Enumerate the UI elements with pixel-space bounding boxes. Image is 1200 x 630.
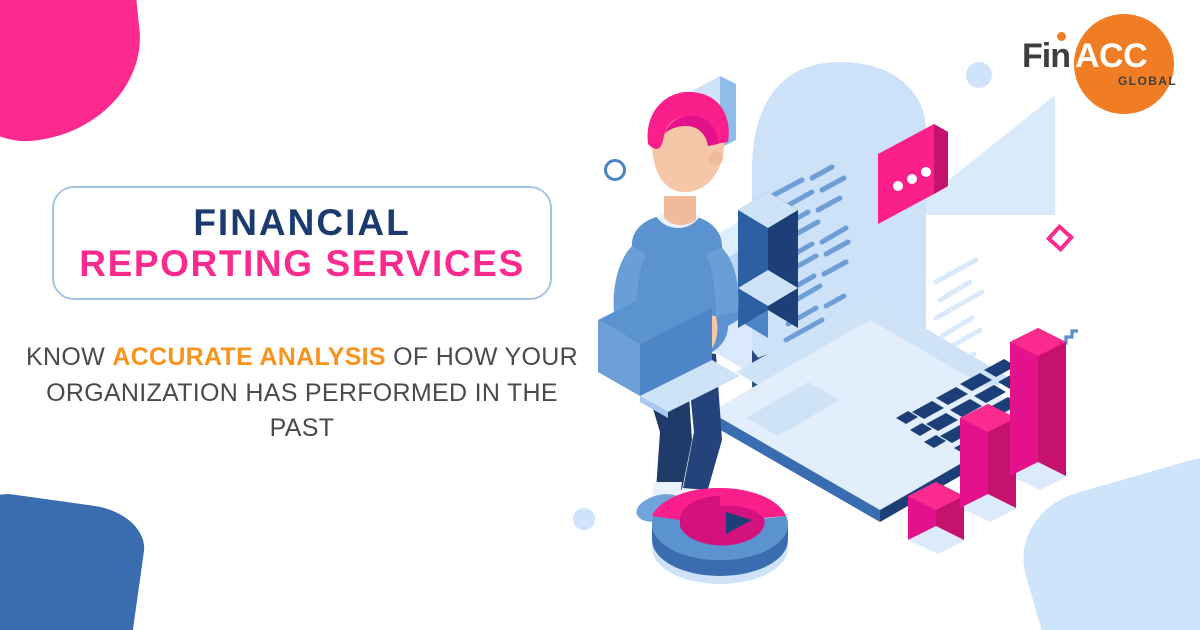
headline-line-1: FINANCIAL: [193, 203, 410, 242]
decor-blob-pink-top-left: [0, 0, 150, 150]
subtitle-highlight: ACCURATE ANALYSIS: [112, 343, 386, 371]
decor-polygon-blue-bottom-left: [0, 488, 149, 630]
subtitle: KNOW ACCURATE ANALYSIS OF HOW YOUR ORGAN…: [22, 340, 582, 447]
logo-text-global: GLOBAL: [1118, 74, 1177, 88]
subtitle-before: KNOW: [26, 343, 112, 371]
illo-pie-chart: [652, 488, 788, 584]
headline-box: FINANCIAL REPORTING SERVICES: [52, 186, 552, 300]
promo-banner: FINANCIAL REPORTING SERVICES KNOW ACCURA…: [0, 0, 1200, 630]
headline-line-2: REPORTING SERVICES: [79, 244, 524, 283]
illustration-isometric-scene: [540, 20, 1100, 620]
